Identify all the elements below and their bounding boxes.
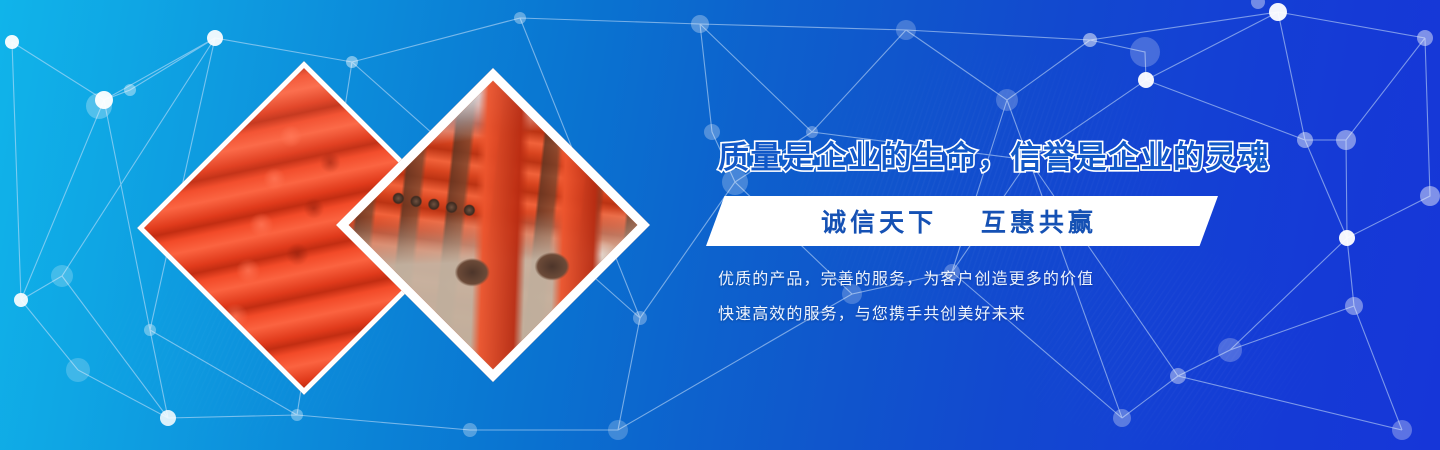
mesh-dot [51,265,73,287]
mesh-dot [1251,0,1265,9]
mesh-dot [1113,409,1131,427]
mesh-dot [1297,132,1313,148]
mesh-dot [144,324,156,336]
mesh-dot [996,89,1018,111]
mesh-dot [1218,338,1242,362]
mesh-dot [346,56,358,68]
promotional-banner: 质量是企业的生命，信誉是企业的灵魂 诚信天下 互惠共赢 优质的产品，完善的服务，… [0,0,1440,450]
banner-subline-1: 优质的产品，完善的服务，为客户创造更多的价值 [718,265,1094,289]
mesh-dot [1336,130,1356,150]
mesh-dot [1170,368,1186,384]
mesh-dot [1339,230,1355,246]
mesh-dot [1345,297,1363,315]
mesh-dot [633,311,647,325]
mesh-dot [463,423,477,437]
mesh-dot [66,358,90,382]
banner-subline-2: 快速高效的服务，与您携手共创美好未来 [718,300,1026,324]
mesh-dot [691,15,709,33]
mesh-dot [291,409,303,421]
mesh-dot [1130,37,1160,67]
mesh-dot [1083,33,1097,47]
mesh-dot [207,30,223,46]
mesh-dot [608,420,628,440]
mesh-dot [124,84,136,96]
mesh-dot [514,12,526,24]
mesh-dot [160,410,176,426]
mesh-dot [1420,186,1440,206]
slogan-ribbon-text: 诚信天下 互惠共赢 [706,196,1218,246]
slogan-ribbon: 诚信天下 互惠共赢 [706,196,1218,246]
mesh-dot [14,293,28,307]
mesh-dot [896,20,916,40]
mesh-dot [1269,3,1287,21]
mesh-dot [1138,72,1154,88]
mesh-dot [1417,30,1433,46]
mesh-dot [5,35,19,49]
banner-headline: 质量是企业的生命，信誉是企业的灵魂 [718,132,1218,177]
mesh-dot [1392,420,1412,440]
mesh-dot [86,93,112,119]
